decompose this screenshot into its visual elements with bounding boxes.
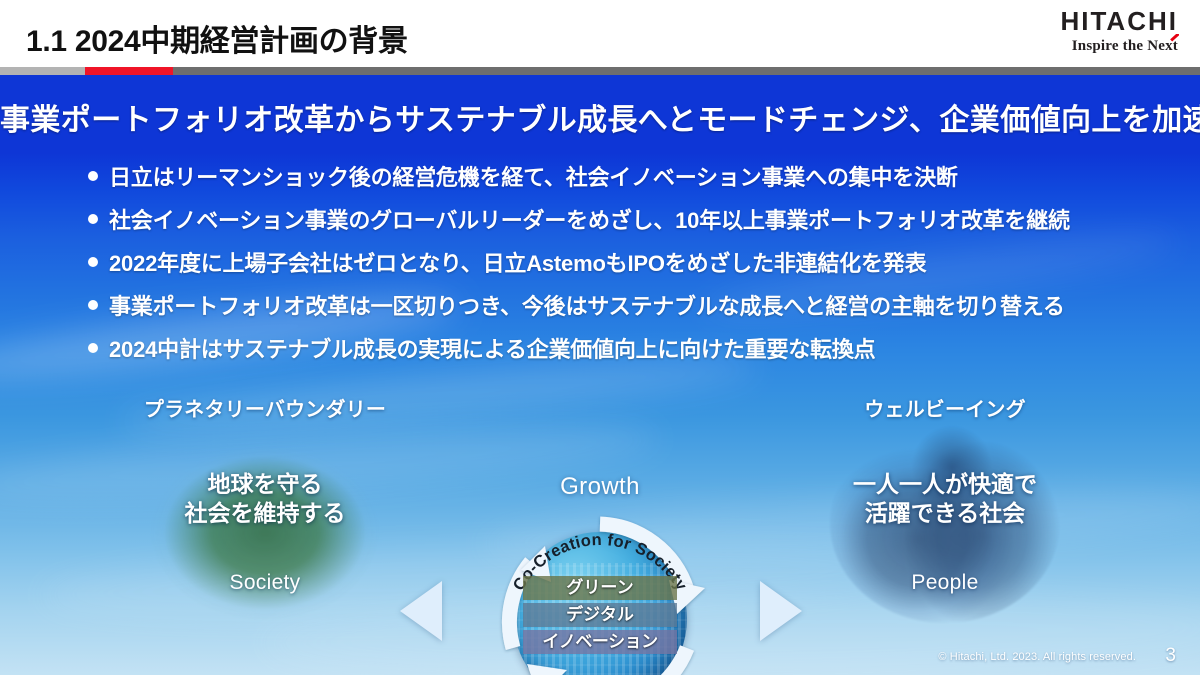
diagram-left-column: プラネタリーバウンダリー 地球を守る 社会を維持する Society <box>105 393 425 595</box>
diagram-right-column: ウェルビーイング 一人一人が快適で 活躍できる社会 People <box>785 393 1105 595</box>
header-divider <box>0 67 1200 75</box>
list-item-text: 2022年度に上場子会社はゼロとなり、日立AstemoもIPOをめざした非連結化… <box>109 246 926 278</box>
pillar-bands: グリーン デジタル イノベーション <box>523 576 677 657</box>
page-number: 3 <box>1165 645 1176 667</box>
bullet-dot-icon <box>88 214 98 224</box>
list-item-text: 事業ポートフォリオ改革は一区切りつき、今後はサステナブルな成長へと経営の主軸を切… <box>109 289 1065 321</box>
band-green: グリーン <box>523 576 677 600</box>
left-main-line1: 地球を守る <box>105 470 425 499</box>
right-main-line1: 一人一人が快適で <box>785 470 1105 499</box>
slide-header: 1.1 2024中期経営計画の背景 HITACHI Inspire the Ne… <box>0 0 1200 67</box>
right-main-line2: 活躍できる社会 <box>785 499 1105 528</box>
left-main-text: 地球を守る 社会を維持する <box>105 470 425 529</box>
page-title: 1.1 2024中期経営計画の背景 <box>26 16 408 60</box>
right-main-text: 一人一人が快適で 活躍できる社会 <box>785 470 1105 529</box>
list-item: 日立はリーマンショック後の経営危機を経て、社会イノベーション事業への集中を決断 <box>88 160 1148 192</box>
list-item: 2024中計はサステナブル成長の実現による企業価値向上に向けた重要な転換点 <box>88 332 1148 364</box>
accent-tick-icon <box>1170 34 1179 43</box>
list-item-text: 2024中計はサステナブル成長の実現による企業価値向上に向けた重要な転換点 <box>109 332 875 364</box>
list-item: 事業ポートフォリオ改革は一区切りつき、今後はサステナブルな成長へと経営の主軸を切… <box>88 289 1148 321</box>
band-digital: デジタル <box>523 603 677 627</box>
hitachi-tagline: Inspire the Next <box>1072 38 1178 54</box>
left-main-line2: 社会を維持する <box>105 499 425 528</box>
list-item: 社会イノベーション事業のグローバルリーダーをめざし、10年以上事業ポートフォリオ… <box>88 203 1148 235</box>
right-kicker-label: ウェルビーイング <box>785 393 1105 422</box>
list-item-text: 社会イノベーション事業のグローバルリーダーをめざし、10年以上事業ポートフォリオ… <box>109 203 1070 235</box>
left-footer-label: Society <box>105 571 425 595</box>
co-creation-circle: Co-Creation for Society グリーン デジタル イノベーショ… <box>491 510 709 675</box>
list-item-text: 日立はリーマンショック後の経営危機を経て、社会イノベーション事業への集中を決断 <box>109 160 958 192</box>
bullet-dot-icon <box>88 343 98 353</box>
list-item: 2022年度に上場子会社はゼロとなり、日立AstemoもIPOをめざした非連結化… <box>88 246 1148 278</box>
banner-headline: 事業ポートフォリオ改革からサステナブル成長へとモードチェンジ、企業価値向上を加速 <box>0 95 1200 139</box>
divider-segment-red-accent <box>85 67 173 75</box>
right-footer-label: People <box>785 571 1105 595</box>
bullet-dot-icon <box>88 300 98 310</box>
divider-segment-gray-right <box>173 67 1200 75</box>
divider-segment-gray-left <box>0 67 85 75</box>
slide-body: 事業ポートフォリオ改革からサステナブル成長へとモードチェンジ、企業価値向上を加速… <box>0 75 1200 675</box>
hitachi-tagline-wrap: Inspire the Next <box>1060 38 1178 55</box>
copyright-notice: © Hitachi, Ltd. 2023. All rights reserve… <box>938 651 1136 663</box>
left-kicker-label: プラネタリーバウンダリー <box>105 393 425 422</box>
bullet-dot-icon <box>88 171 98 181</box>
hitachi-logo: HITACHI Inspire the Next <box>1060 8 1178 55</box>
bullet-dot-icon <box>88 257 98 267</box>
bullet-list: 日立はリーマンショック後の経営危機を経て、社会イノベーション事業への集中を決断 … <box>88 160 1148 375</box>
hitachi-wordmark: HITACHI <box>1060 8 1178 34</box>
band-innovation: イノベーション <box>523 630 677 654</box>
co-creation-diagram: プラネタリーバウンダリー 地球を守る 社会を維持する Society ウェルビー… <box>0 393 1200 675</box>
